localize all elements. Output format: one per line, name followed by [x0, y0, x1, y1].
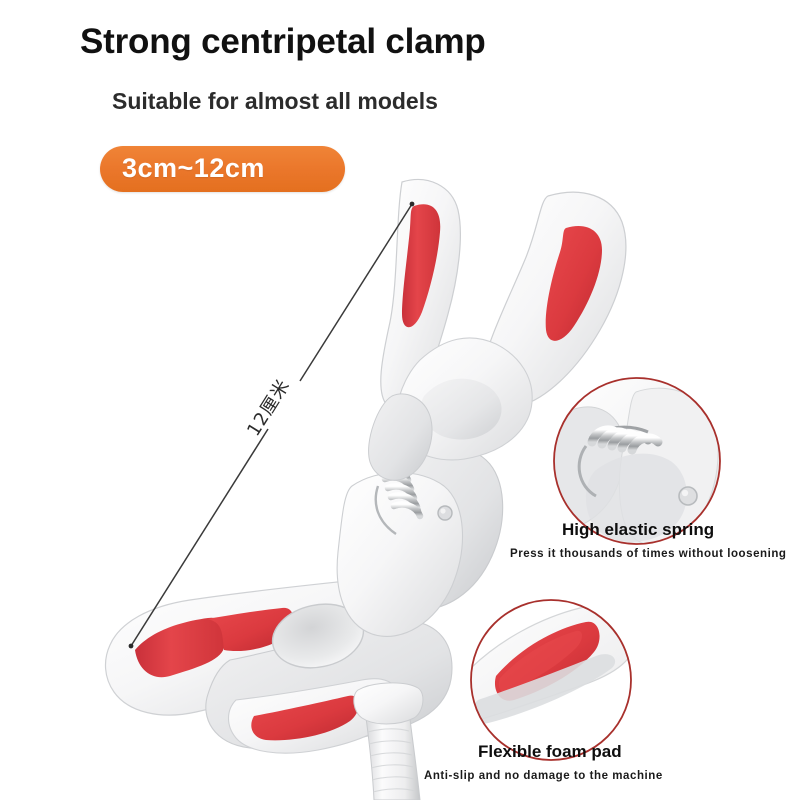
foampad-callout-subtitle: Anti-slip and no damage to the machine	[424, 770, 663, 782]
pivot-screw-highlight	[440, 508, 445, 513]
pivot-screw	[438, 506, 452, 520]
inset-pivot-screw	[679, 487, 697, 505]
gooseneck-stem	[354, 683, 423, 800]
size-range-label: 3cm~12cm	[122, 153, 265, 184]
spring-callout-title: High elastic spring	[562, 520, 714, 540]
callout-foampad-circle	[467, 600, 636, 760]
product-infographic: Strong centripetal clamp Suitable for al…	[0, 0, 800, 800]
page-subtitle: Suitable for almost all models	[112, 88, 438, 115]
page-title: Strong centripetal clamp	[80, 22, 486, 62]
stem-collar	[354, 683, 423, 724]
spring-callout-subtitle: Press it thousands of times without loos…	[510, 548, 787, 560]
foampad-callout-title: Flexible foam pad	[478, 742, 622, 762]
clamp-hinge	[337, 444, 503, 636]
size-range-badge: 3cm~12cm	[100, 146, 345, 192]
product-illustration	[0, 0, 800, 800]
inset-pivot-highlight	[682, 490, 688, 496]
